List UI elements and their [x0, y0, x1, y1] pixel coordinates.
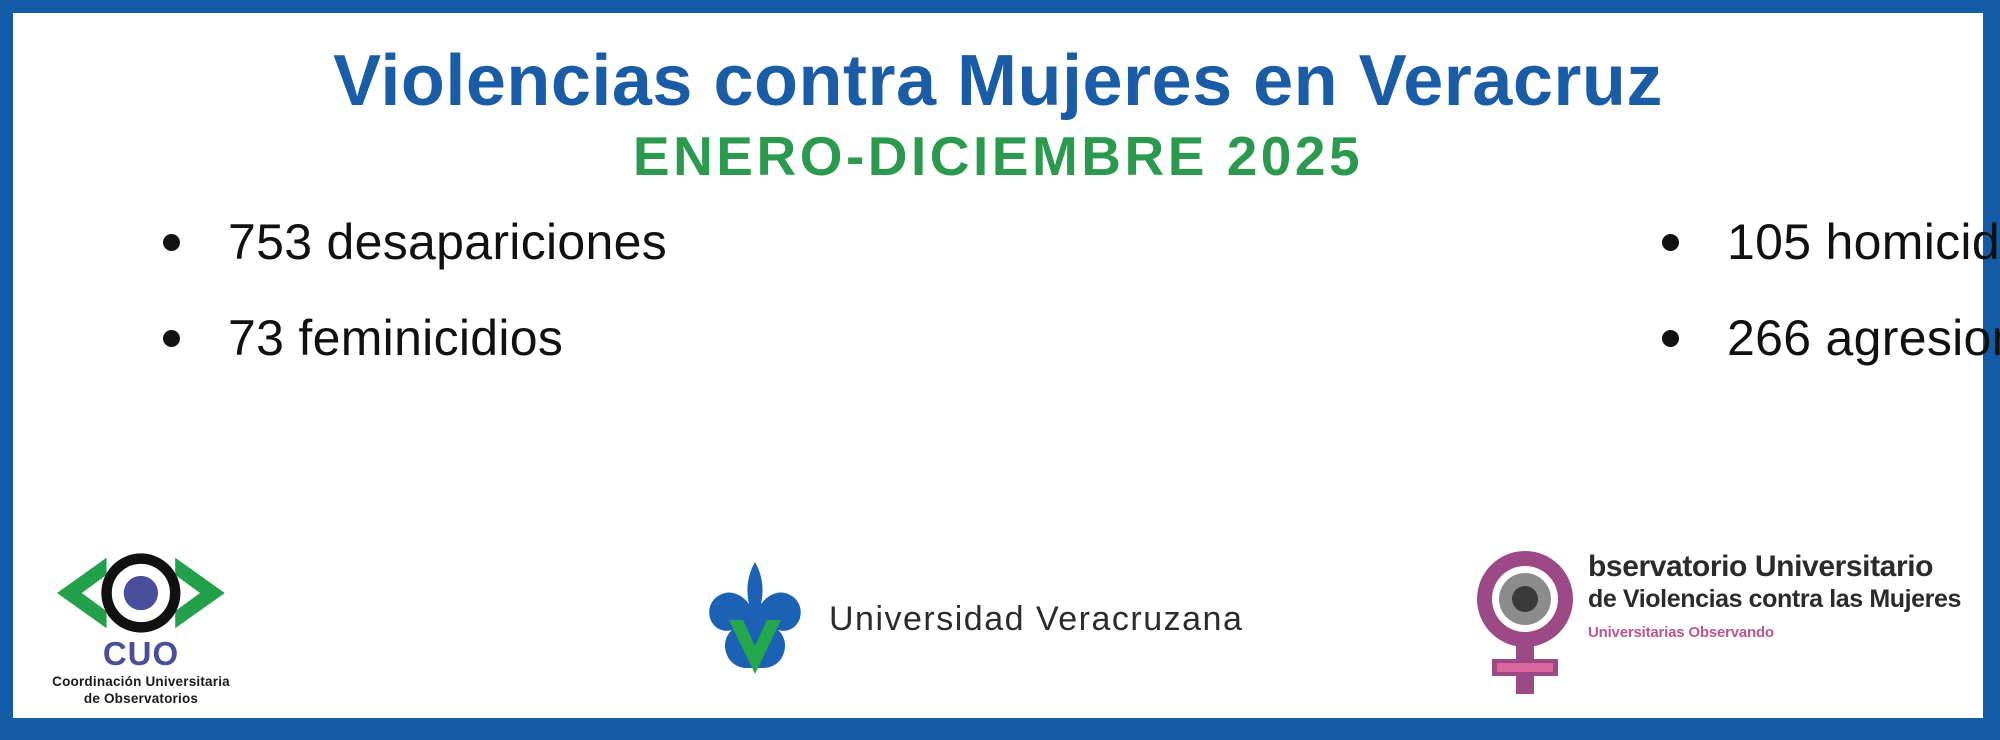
bullet-dot-icon: [1662, 330, 1679, 347]
bullet-dot-icon: [1662, 234, 1679, 251]
bullet-dot-icon: [163, 330, 180, 347]
cuo-caption: Coordinación Universitaria de Observator…: [31, 674, 251, 708]
cuo-eye-icon: [36, 552, 246, 634]
cuo-acronym: CUO: [31, 637, 251, 670]
ouv-name-line-2: de Violencias contra las Mujeres: [1588, 587, 1961, 612]
statistics-column-right: 105 homicidios 266 agresiones: [667, 213, 2000, 367]
fleur-de-lis-icon: [703, 560, 807, 678]
cuo-caption-line-1: Coordinación Universitaria: [31, 674, 251, 691]
uv-wordmark: Universidad Veracruzana: [829, 600, 1243, 639]
logo-cuo: CUO Coordinación Universitaria de Observ…: [31, 552, 251, 708]
page-subtitle: ENERO-DICIEMBRE 2025: [13, 128, 1983, 184]
ouv-name-line-1: bservatorio Universitario: [1588, 552, 1961, 582]
list-item: 105 homicidios: [1662, 213, 2000, 271]
poster-infographic: Violencias contra Mujeres en Veracruz EN…: [0, 0, 2000, 740]
logo-observatorio-universitario: bservatorio Universitario de Violencias …: [1466, 546, 1961, 696]
logo-strip: CUO Coordinación Universitaria de Observ…: [13, 526, 1983, 716]
page-title: Violencias contra Mujeres en Veracruz: [13, 45, 1983, 118]
stat-agresiones: 266 agresiones: [1727, 309, 2000, 367]
frame-top-border: [0, 0, 2000, 13]
logo-universidad-veracruzana: Universidad Veracruzana: [703, 560, 1243, 678]
ouv-textblock: bservatorio Universitario de Violencias …: [1588, 552, 1961, 641]
stat-feminicidios: 73 feminicidios: [228, 309, 563, 367]
stat-homicidios: 105 homicidios: [1727, 213, 2000, 271]
cuo-caption-line-2: de Observatorios: [31, 691, 251, 708]
frame-bottom-border: [0, 718, 2000, 740]
bullet-dot-icon: [163, 234, 180, 251]
heading-block: Violencias contra Mujeres en Veracruz EN…: [13, 45, 1983, 185]
list-item: 753 desapariciones: [163, 213, 667, 271]
stat-desapariciones: 753 desapariciones: [228, 213, 667, 271]
frame-left-border: [0, 0, 13, 740]
list-item: 266 agresiones: [1662, 309, 2000, 367]
statistics-section: 753 desapariciones 73 feminicidios 105 h…: [13, 213, 1983, 367]
venus-eye-icon: [1466, 546, 1584, 696]
statistics-column-left: 753 desapariciones 73 feminicidios: [13, 213, 667, 367]
ouv-tagline: Universitarias Observando: [1588, 624, 1961, 641]
frame-right-border: [1983, 0, 2000, 740]
list-item: 73 feminicidios: [163, 309, 667, 367]
poster-content: Violencias contra Mujeres en Veracruz EN…: [13, 13, 1983, 718]
